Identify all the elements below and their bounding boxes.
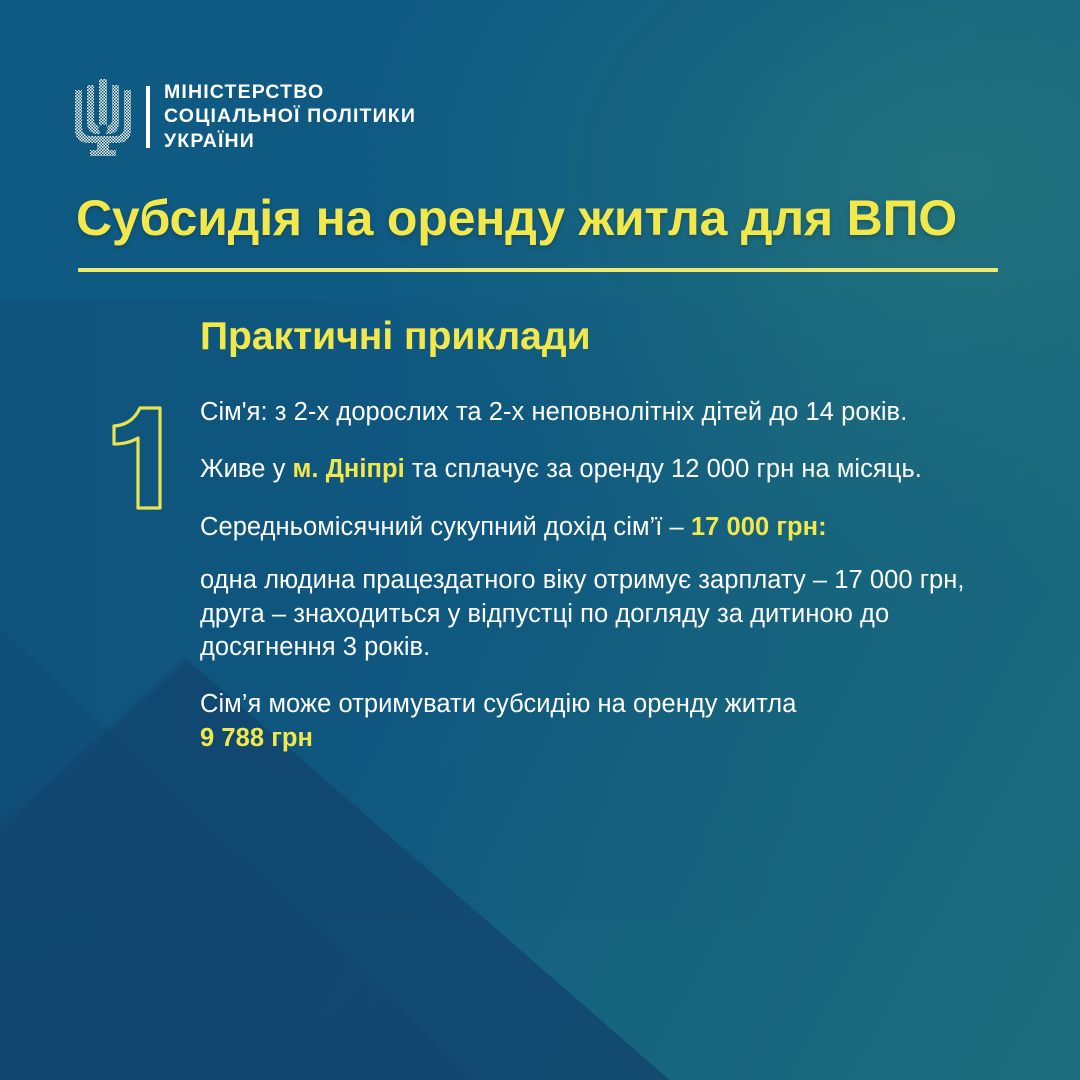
income-breakdown-text: одна людина працездатного віку отримує з… <box>200 566 965 661</box>
city-highlight: м. Дніпрі <box>293 455 405 483</box>
paragraph-subsidy-result: Сім’я може отримувати субсидію на оренду… <box>200 688 990 755</box>
rent-suffix: та сплачує за оренду 12 000 грн на місяц… <box>405 455 922 483</box>
paragraph-residence-and-rent: Живе у м. Дніпрі та сплачує за оренду 12… <box>200 453 990 486</box>
subsidy-amount-highlight: 9 788 грн <box>200 724 313 752</box>
residence-prefix: Живе у <box>200 455 293 483</box>
paragraph-income-breakdown: одна людина працездатного віку отримує з… <box>200 564 990 664</box>
ukraine-trident-emblem <box>72 76 134 158</box>
ministry-logo-text: МІНІСТЕРСТВО СОЦІАЛЬНОЇ ПОЛІТИКИ УКРАЇНИ <box>164 83 416 152</box>
section-subhead: Практичні приклади <box>200 316 591 359</box>
infographic-canvas: МІНІСТЕРСТВО СОЦІАЛЬНОЇ ПОЛІТИКИ УКРАЇНИ… <box>0 0 1080 1080</box>
family-composition-text: Сім'я: з 2-х дорослих та 2-х неповнолітн… <box>200 398 907 426</box>
logo-line-2: СОЦІАЛЬНОЇ ПОЛІТИКИ <box>164 107 416 127</box>
example-body: Сім'я: з 2-х дорослих та 2-х неповнолітн… <box>200 396 990 755</box>
page-title: Субсидія на оренду житла для ВПО <box>76 192 957 245</box>
logo-divider <box>146 86 150 148</box>
logo-line-1: МІНІСТЕРСТВО <box>164 83 416 103</box>
income-label: Середньомісячний сукупний дохід сім’ї – <box>200 513 691 541</box>
income-amount-highlight: 17 000 грн: <box>691 513 827 541</box>
logo-line-3: УКРАЇНИ <box>164 132 416 152</box>
paragraph-household-income: Середньомісячний сукупний дохід сім’ї – … <box>200 511 990 544</box>
step-number-1 <box>86 386 202 516</box>
ministry-logo: МІНІСТЕРСТВО СОЦІАЛЬНОЇ ПОЛІТИКИ УКРАЇНИ <box>72 76 416 158</box>
title-underline-rule <box>78 268 998 272</box>
paragraph-family-composition: Сім'я: з 2-х дорослих та 2-х неповнолітн… <box>200 396 990 429</box>
subsidy-label: Сім’я може отримувати субсидію на оренду… <box>200 690 796 718</box>
